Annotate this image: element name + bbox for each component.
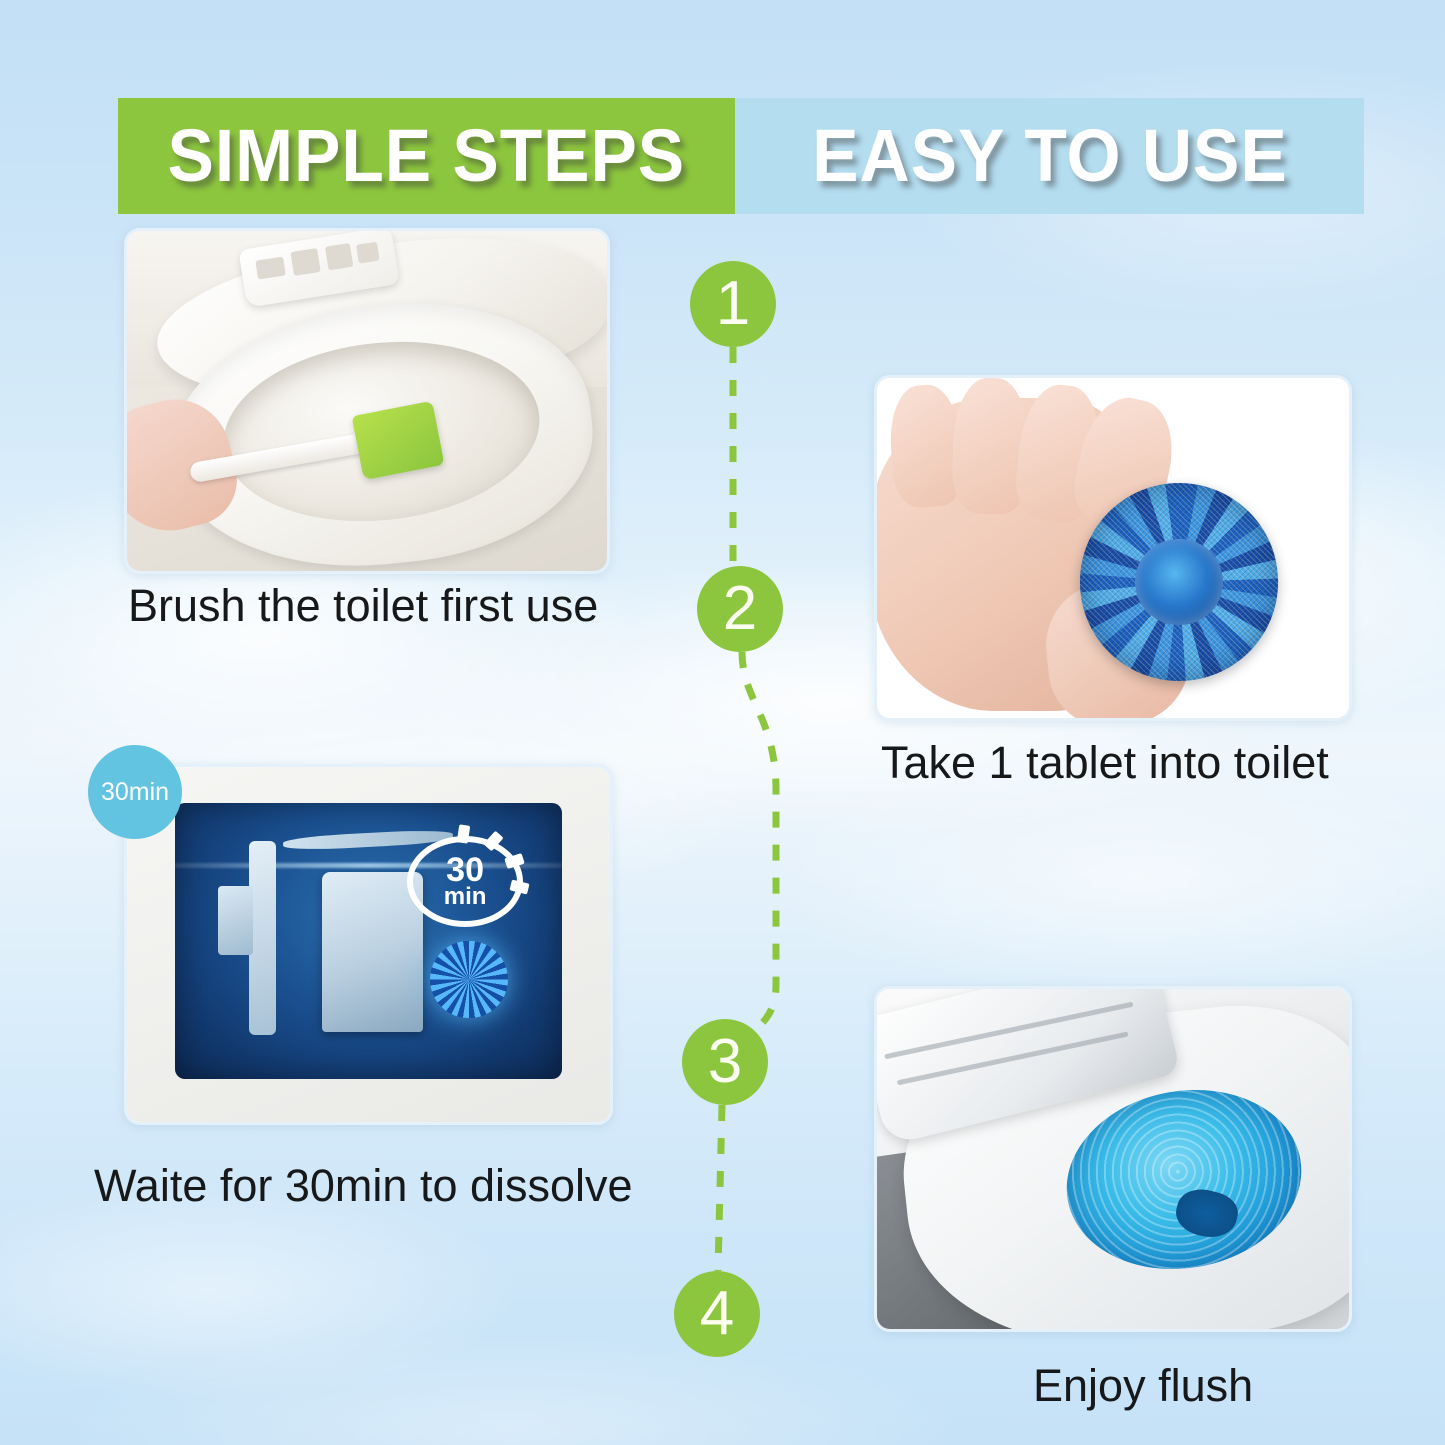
dissolving-tablet-shape: [430, 941, 507, 1019]
header-banner: SIMPLE STEPS EASY TO USE: [118, 98, 1364, 214]
step-caption-4: Enjoy flush: [1033, 1363, 1253, 1408]
cloud-decoration: [0, 1180, 520, 1400]
cloud-decoration: [60, 1330, 960, 1445]
step-caption-2: Take 1 tablet into toilet: [881, 740, 1329, 785]
step-image-enjoy-flush: [874, 986, 1352, 1332]
step-caption-1: Brush the toilet first use: [128, 583, 598, 628]
header-title-easy-to-use: EASY TO USE: [812, 119, 1288, 193]
header-banner-right: EASY TO USE: [735, 98, 1364, 214]
timer-number: 30: [446, 854, 484, 886]
timer-corner-badge: 30min: [88, 745, 182, 839]
step-image-brush-toilet: [124, 228, 610, 574]
header-title-simple-steps: SIMPLE STEPS: [168, 119, 686, 193]
step-badge-3[interactable]: 3: [682, 1019, 768, 1105]
infographic-root: SIMPLE STEPS EASY TO USE 1 2 3 4: [0, 0, 1445, 1445]
step-badge-4[interactable]: 4: [674, 1271, 760, 1357]
float-shape: [218, 886, 253, 955]
step-caption-3: Waite for 30min to dissolve: [94, 1163, 633, 1208]
blue-cleaning-tablet: [1080, 483, 1278, 680]
header-banner-left: SIMPLE STEPS: [118, 98, 735, 214]
fill-tube-shape: [249, 841, 276, 1035]
step-image-take-tablet: [874, 375, 1352, 721]
cloud-decoration: [760, 760, 1445, 1000]
timer-graphic: 30 min: [407, 836, 523, 927]
step-image-dissolve-cistern: 30 min: [124, 764, 613, 1125]
step-badge-2[interactable]: 2: [697, 566, 783, 652]
step-badge-1[interactable]: 1: [690, 261, 776, 347]
timer-unit: min: [444, 886, 487, 909]
cistern-interior-scene: 30 min: [175, 803, 561, 1080]
